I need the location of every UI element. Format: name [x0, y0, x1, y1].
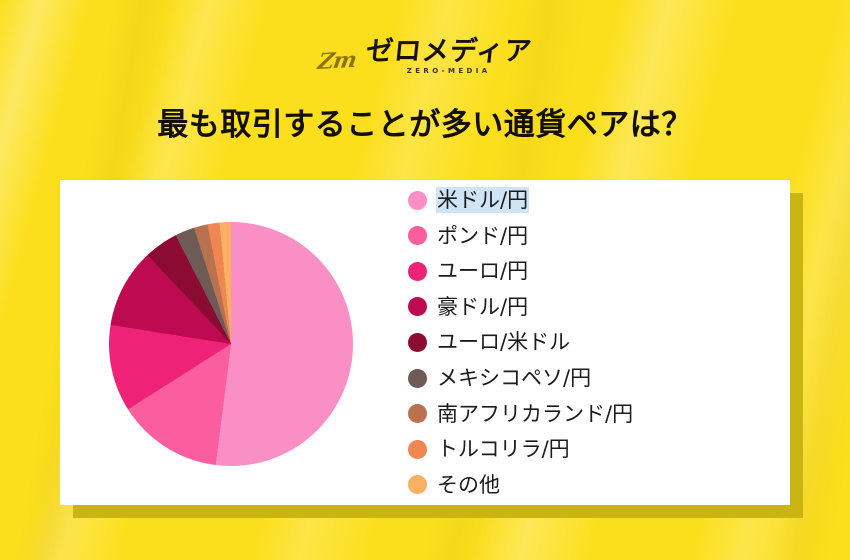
chart-legend: 米ドル/円ポンド/円ユーロ/円豪ドル/円ユーロ/米ドルメキシコペソ/円南アフリカ…	[400, 182, 790, 502]
legend-item-label: トルコリラ/円	[437, 437, 570, 461]
legend-swatch-icon	[408, 262, 427, 281]
page-title: 最も取引することが多い通貨ペアは？	[0, 99, 850, 144]
legend-swatch-icon	[408, 404, 427, 423]
brand-name: ゼロメディア	[364, 38, 533, 65]
legend-swatch-icon	[408, 369, 427, 388]
legend-item-label: 南アフリカランド/円	[437, 402, 633, 426]
brand-logo: Zm ゼロメディア ZERO-MEDIA	[0, 38, 850, 75]
pie-chart-area	[60, 180, 400, 505]
legend-item[interactable]: ポンド/円	[408, 218, 790, 254]
legend-swatch-icon	[408, 191, 427, 210]
legend-swatch-icon	[408, 440, 427, 459]
brand-mark-icon: Zm	[316, 49, 358, 76]
legend-item[interactable]: 豪ドル/円	[408, 289, 790, 325]
legend-item[interactable]: トルコリラ/円	[408, 431, 790, 467]
legend-swatch-icon	[408, 333, 427, 352]
legend-item-label: その他	[437, 473, 500, 497]
brand-subtitle: ZERO-MEDIA	[407, 68, 491, 75]
legend-item[interactable]: 南アフリカランド/円	[408, 396, 790, 432]
legend-item-label: 豪ドル/円	[437, 295, 528, 319]
legend-item[interactable]: 米ドル/円	[408, 182, 790, 218]
legend-item-label: ポンド/円	[437, 224, 528, 248]
legend-item-label: メキシコペソ/円	[437, 366, 591, 390]
legend-item[interactable]: その他	[408, 467, 790, 503]
legend-item[interactable]: ユーロ/円	[408, 254, 790, 290]
legend-swatch-icon	[408, 475, 427, 494]
legend-item[interactable]: メキシコペソ/円	[408, 360, 790, 396]
legend-item-label: ユーロ/米ドル	[437, 330, 570, 354]
legend-swatch-icon	[408, 297, 427, 316]
pie-chart	[109, 222, 353, 466]
legend-item-label: 米ドル/円	[437, 188, 528, 212]
infographic-stage: Zm ゼロメディア ZERO-MEDIA 最も取引することが多い通貨ペアは？ 米…	[0, 0, 850, 560]
legend-item[interactable]: ユーロ/米ドル	[408, 325, 790, 361]
legend-item-label: ユーロ/円	[437, 259, 528, 283]
legend-swatch-icon	[408, 226, 427, 245]
chart-card: 米ドル/円ポンド/円ユーロ/円豪ドル/円ユーロ/米ドルメキシコペソ/円南アフリカ…	[60, 180, 790, 505]
